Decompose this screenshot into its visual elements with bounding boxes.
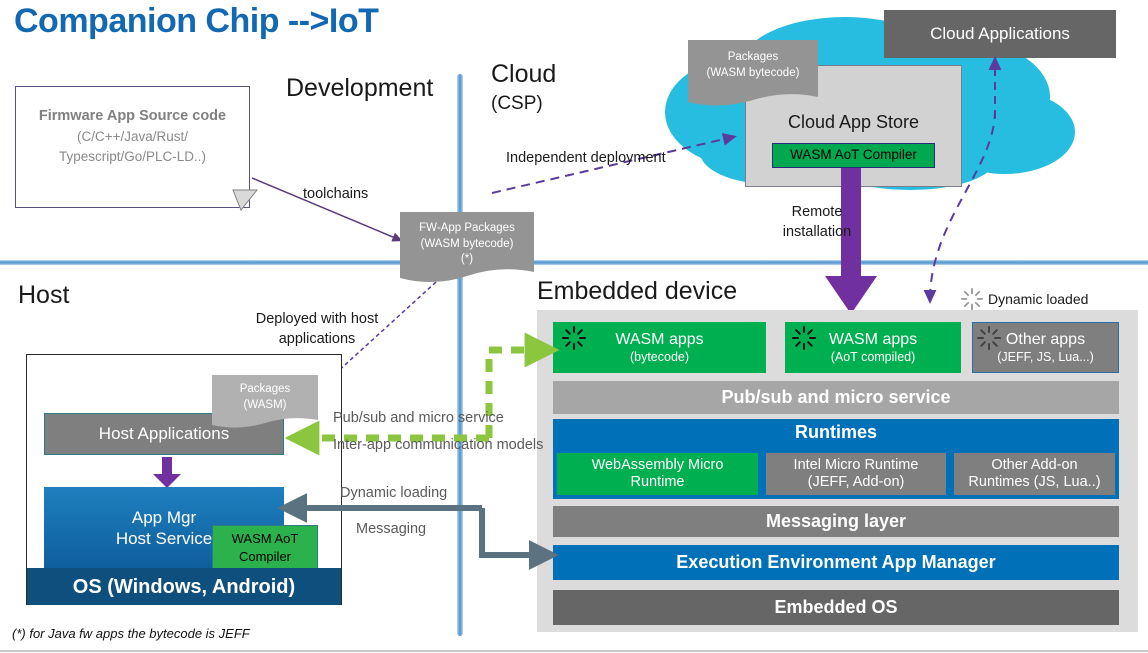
pubsub-micro-service-label: Pub/sub and micro service <box>333 410 504 426</box>
fw-app-packages-callout: FW-App Packages (WASM bytecode) (*) <box>400 212 534 284</box>
messaging-label: Messaging <box>356 521 426 537</box>
embedded-os-box[interactable]: Embedded OS <box>553 590 1119 625</box>
embedded-app-1-name: WASM apps <box>829 330 917 349</box>
firmware-source-line2: Typescript/Go/PLC-LD..) <box>16 147 249 167</box>
remote-installation-line2: installation <box>772 223 862 243</box>
cloud-packages-callout: Packages (WASM bytecode) <box>688 40 818 105</box>
embedded-runtime-box-2[interactable]: Other Add-on Runtimes (JS, Lua..) <box>954 453 1115 495</box>
firmware-source-line1: (C/C++/Java/Rust/ <box>16 127 249 147</box>
fw-app-packages-line3: (*) <box>400 252 534 268</box>
embedded-app-0-name: WASM apps <box>615 330 703 349</box>
embedded-runtime-2-line2: Runtimes (JS, Lua..) <box>968 474 1100 491</box>
toolchains-label: toolchains <box>303 186 368 202</box>
dynamic-loaded-icon <box>792 326 816 355</box>
remote-installation-arrow <box>823 168 879 321</box>
firmware-source-code-box[interactable]: Firmware App Source code (C/C++/Java/Rus… <box>15 86 250 208</box>
page-title: Companion Chip -->IoT <box>14 2 378 41</box>
app-mgr-line1: App Mgr <box>132 508 196 528</box>
section-heading-host: Host <box>18 281 69 310</box>
dynamic-loaded-legend-icon <box>961 288 983 315</box>
host-os-label: OS (Windows, Android) <box>73 575 295 599</box>
host-os-box[interactable]: OS (Windows, Android) <box>27 568 341 605</box>
embedded-app-2-sub: (JEFF, JS, Lua...) <box>997 350 1094 365</box>
embedded-app-manager[interactable]: Execution Environment App Manager <box>553 545 1119 580</box>
embedded-app-2-name: Other apps <box>1006 330 1085 349</box>
fw-app-packages-line2: (WASM bytecode) <box>400 237 534 253</box>
cloud-packages-line1: Packages <box>688 50 818 66</box>
app-mgr-line2: Host Service <box>116 529 212 549</box>
embedded-runtimes-title: Runtimes <box>553 419 1119 443</box>
fw-app-packages-line1: FW-App Packages <box>400 221 534 237</box>
section-subheading-cloud: (CSP) <box>491 93 543 115</box>
embedded-runtime-0-line1: WebAssembly Micro <box>592 457 724 474</box>
footnote: (*) for Java fw apps the bytecode is JEF… <box>12 626 250 641</box>
embedded-app-1-sub: (AoT compiled) <box>831 350 916 365</box>
host-applications-label: Host Applications <box>99 424 229 444</box>
embedded-messaging-label: Messaging layer <box>766 511 906 533</box>
dynamic-loaded-legend-label: Dynamic loaded <box>988 291 1088 307</box>
firmware-source-title: Firmware App Source code <box>16 108 249 124</box>
embedded-runtime-1-line2: (JEFF, Add-on) <box>808 474 905 491</box>
deployed-with-host-line1: Deployed with host <box>222 310 412 330</box>
section-heading-cloud: Cloud <box>491 60 556 89</box>
cloud-applications-label: Cloud Applications <box>930 24 1070 44</box>
cloud-packages-line2: (WASM bytecode) <box>688 66 818 82</box>
embedded-runtime-2-line1: Other Add-on <box>991 457 1077 474</box>
dynamic-loading-label: Dynamic loading <box>340 485 447 501</box>
embedded-pubsub-label: Pub/sub and micro service <box>721 387 950 409</box>
embedded-app-0-sub: (bytecode) <box>630 350 689 365</box>
section-heading-development: Development <box>286 74 433 103</box>
remote-installation-line1: Remote <box>772 203 862 223</box>
embedded-runtime-box-1[interactable]: Intel Micro Runtime (JEFF, Add-on) <box>766 453 946 495</box>
bottom-divider <box>0 650 1148 652</box>
embedded-runtime-1-line1: Intel Micro Runtime <box>794 457 919 474</box>
embedded-pubsub-layer[interactable]: Pub/sub and micro service <box>553 381 1119 414</box>
inter-app-comm-label: Inter-app communication models <box>333 437 543 453</box>
embedded-messaging-layer[interactable]: Messaging layer <box>553 506 1119 537</box>
cloud-wasm-aot-compiler-label: WASM AoT Compiler <box>790 147 917 163</box>
embedded-app-manager-label: Execution Environment App Manager <box>676 552 995 574</box>
embedded-runtime-box-0[interactable]: WebAssembly Micro Runtime <box>557 453 758 495</box>
dynamic-loaded-icon <box>977 326 1001 355</box>
independent-deployment-label: Independent deployment <box>506 150 666 166</box>
section-heading-embedded-device: Embedded device <box>537 277 737 306</box>
embedded-os-label: Embedded OS <box>774 597 897 619</box>
embedded-runtime-0-line2: Runtime <box>631 474 685 491</box>
remote-installation-label: Remote installation <box>772 203 862 242</box>
